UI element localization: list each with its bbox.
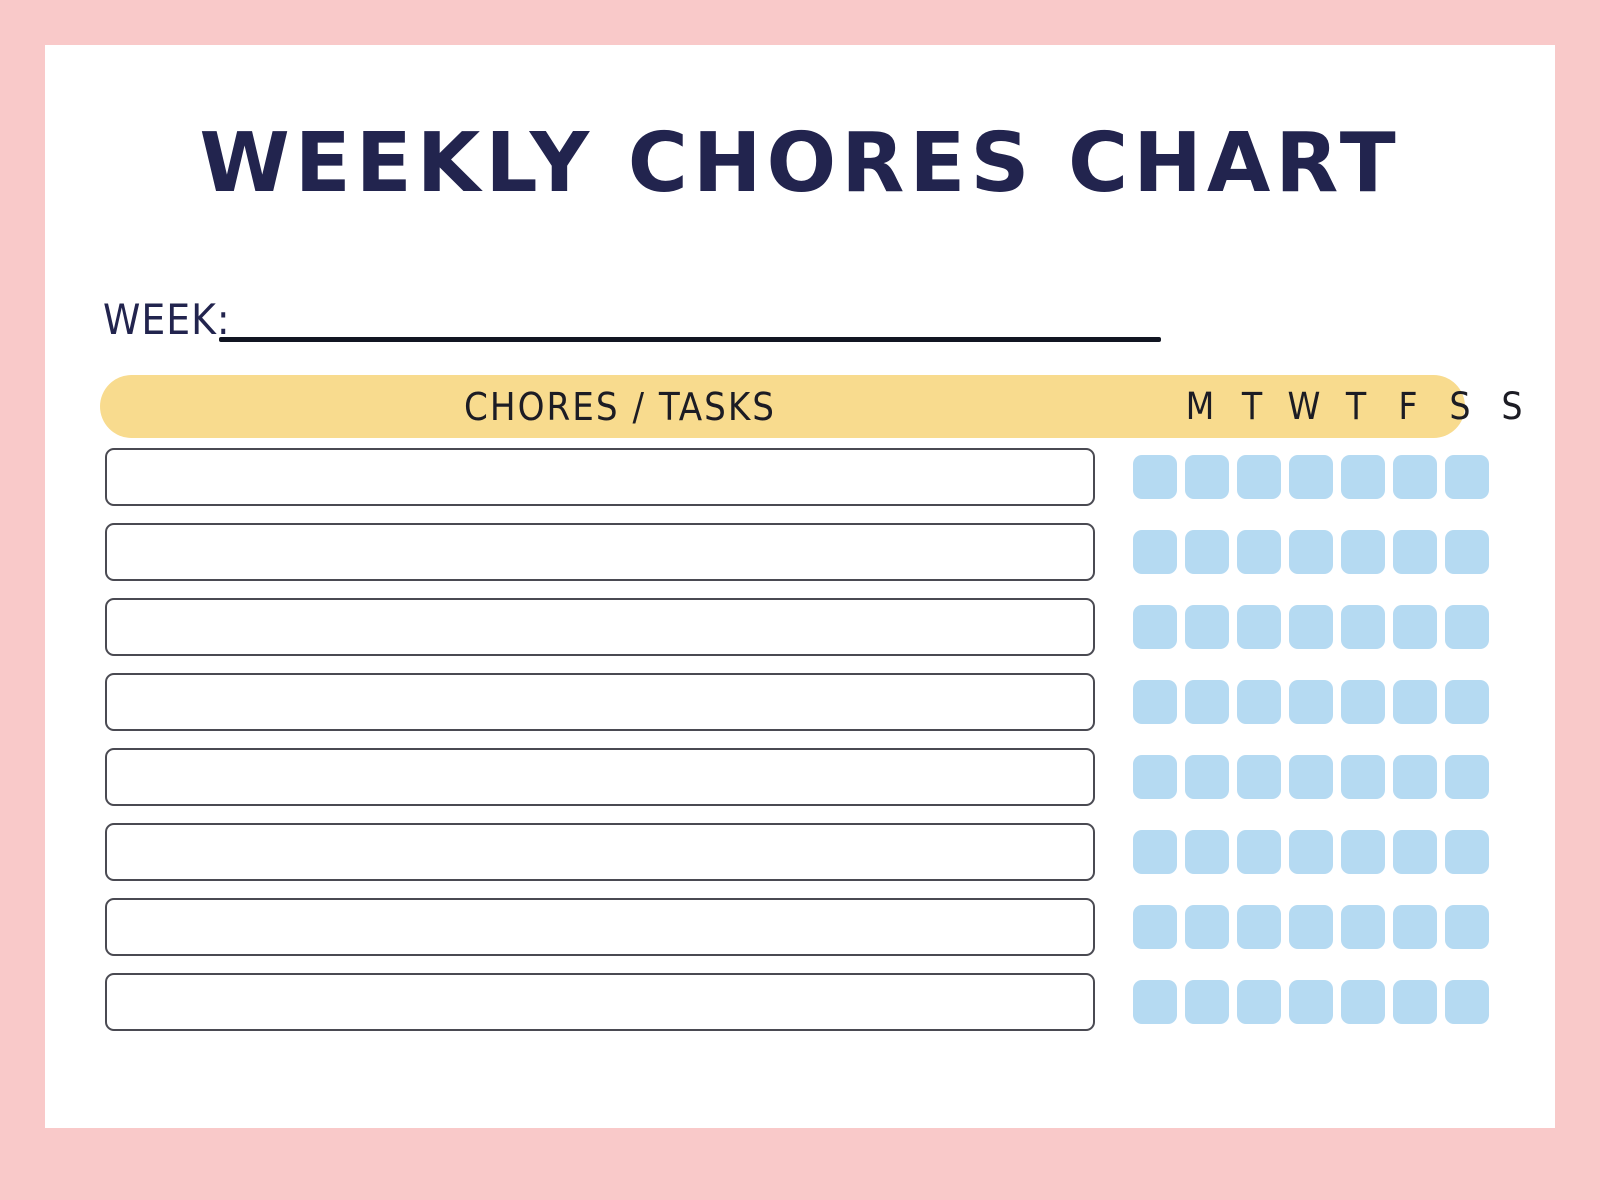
task-input-box[interactable]	[105, 673, 1095, 731]
day-checkbox-6[interactable]	[1445, 530, 1489, 574]
table-header-bar: CHORES / TASKS MTWTFSS	[100, 375, 1465, 438]
day-checkbox-5[interactable]	[1393, 905, 1437, 949]
day-checkbox-1[interactable]	[1185, 830, 1229, 874]
day-checkbox-3[interactable]	[1289, 605, 1333, 649]
day-checkbox-3[interactable]	[1289, 980, 1333, 1024]
day-checkbox-4[interactable]	[1341, 980, 1385, 1024]
day-checkbox-3[interactable]	[1289, 755, 1333, 799]
checkbox-group	[1133, 680, 1497, 724]
day-checkbox-4[interactable]	[1341, 755, 1385, 799]
day-checkbox-5[interactable]	[1393, 530, 1437, 574]
day-checkbox-2[interactable]	[1237, 680, 1281, 724]
task-input-box[interactable]	[105, 448, 1095, 506]
chore-row	[45, 823, 1555, 881]
day-header-2: W	[1282, 388, 1326, 425]
task-input-box[interactable]	[105, 898, 1095, 956]
day-checkbox-2[interactable]	[1237, 455, 1281, 499]
day-header-1: T	[1230, 388, 1274, 425]
day-checkbox-4[interactable]	[1341, 830, 1385, 874]
checkbox-group	[1133, 605, 1497, 649]
task-input-box[interactable]	[105, 748, 1095, 806]
chore-row	[45, 673, 1555, 731]
day-checkbox-3[interactable]	[1289, 905, 1333, 949]
day-checkbox-4[interactable]	[1341, 905, 1385, 949]
day-checkbox-0[interactable]	[1133, 530, 1177, 574]
day-checkbox-1[interactable]	[1185, 680, 1229, 724]
chore-row	[45, 748, 1555, 806]
chore-row	[45, 973, 1555, 1031]
day-checkbox-4[interactable]	[1341, 530, 1385, 574]
day-checkbox-2[interactable]	[1237, 755, 1281, 799]
day-checkbox-6[interactable]	[1445, 455, 1489, 499]
day-checkbox-0[interactable]	[1133, 755, 1177, 799]
day-checkbox-0[interactable]	[1133, 455, 1177, 499]
day-header-0: M	[1178, 388, 1222, 425]
day-checkbox-0[interactable]	[1133, 905, 1177, 949]
day-checkbox-6[interactable]	[1445, 980, 1489, 1024]
task-input-box[interactable]	[105, 523, 1095, 581]
day-checkbox-1[interactable]	[1185, 455, 1229, 499]
day-checkbox-0[interactable]	[1133, 830, 1177, 874]
day-checkbox-1[interactable]	[1185, 530, 1229, 574]
checkbox-group	[1133, 905, 1497, 949]
day-header-6: S	[1490, 388, 1534, 425]
day-checkbox-3[interactable]	[1289, 530, 1333, 574]
day-checkbox-3[interactable]	[1289, 455, 1333, 499]
chores-tasks-column-header: CHORES / TASKS	[100, 375, 1140, 438]
day-checkbox-1[interactable]	[1185, 905, 1229, 949]
task-input-box[interactable]	[105, 598, 1095, 656]
checkbox-group	[1133, 755, 1497, 799]
day-checkbox-1[interactable]	[1185, 605, 1229, 649]
printable-page: WEEKLY CHORES CHART WEEK: CHORES / TASKS…	[45, 45, 1555, 1128]
day-checkbox-6[interactable]	[1445, 755, 1489, 799]
day-checkbox-4[interactable]	[1341, 605, 1385, 649]
day-header-5: S	[1438, 388, 1482, 425]
day-checkbox-6[interactable]	[1445, 605, 1489, 649]
chore-row	[45, 523, 1555, 581]
day-checkbox-2[interactable]	[1237, 830, 1281, 874]
day-checkbox-2[interactable]	[1237, 530, 1281, 574]
day-checkbox-6[interactable]	[1445, 905, 1489, 949]
day-checkbox-2[interactable]	[1237, 905, 1281, 949]
day-checkbox-6[interactable]	[1445, 680, 1489, 724]
day-checkbox-1[interactable]	[1185, 755, 1229, 799]
day-checkbox-2[interactable]	[1237, 980, 1281, 1024]
task-input-box[interactable]	[105, 973, 1095, 1031]
day-checkbox-5[interactable]	[1393, 980, 1437, 1024]
day-checkbox-5[interactable]	[1393, 755, 1437, 799]
chore-row	[45, 598, 1555, 656]
day-checkbox-0[interactable]	[1133, 680, 1177, 724]
checkbox-group	[1133, 980, 1497, 1024]
week-input-line[interactable]	[219, 337, 1161, 342]
day-checkbox-4[interactable]	[1341, 455, 1385, 499]
day-checkbox-2[interactable]	[1237, 605, 1281, 649]
day-checkbox-6[interactable]	[1445, 830, 1489, 874]
week-label: WEEK:	[103, 299, 231, 341]
day-checkbox-5[interactable]	[1393, 830, 1437, 874]
day-checkbox-5[interactable]	[1393, 455, 1437, 499]
day-checkbox-0[interactable]	[1133, 605, 1177, 649]
day-column-headers: MTWTFSS	[1178, 375, 1542, 438]
task-input-box[interactable]	[105, 823, 1095, 881]
day-checkbox-0[interactable]	[1133, 980, 1177, 1024]
day-checkbox-4[interactable]	[1341, 680, 1385, 724]
day-checkbox-5[interactable]	[1393, 680, 1437, 724]
week-field-row: WEEK:	[103, 293, 1163, 355]
day-checkbox-5[interactable]	[1393, 605, 1437, 649]
page-title: WEEKLY CHORES CHART	[45, 123, 1555, 205]
checkbox-group	[1133, 530, 1497, 574]
checkbox-group	[1133, 455, 1497, 499]
chore-row	[45, 448, 1555, 506]
day-checkbox-3[interactable]	[1289, 680, 1333, 724]
checkbox-group	[1133, 830, 1497, 874]
chore-row	[45, 898, 1555, 956]
day-header-3: T	[1334, 388, 1378, 425]
day-checkbox-3[interactable]	[1289, 830, 1333, 874]
chore-rows-area	[45, 448, 1555, 1048]
day-checkbox-1[interactable]	[1185, 980, 1229, 1024]
day-header-4: F	[1386, 388, 1430, 425]
